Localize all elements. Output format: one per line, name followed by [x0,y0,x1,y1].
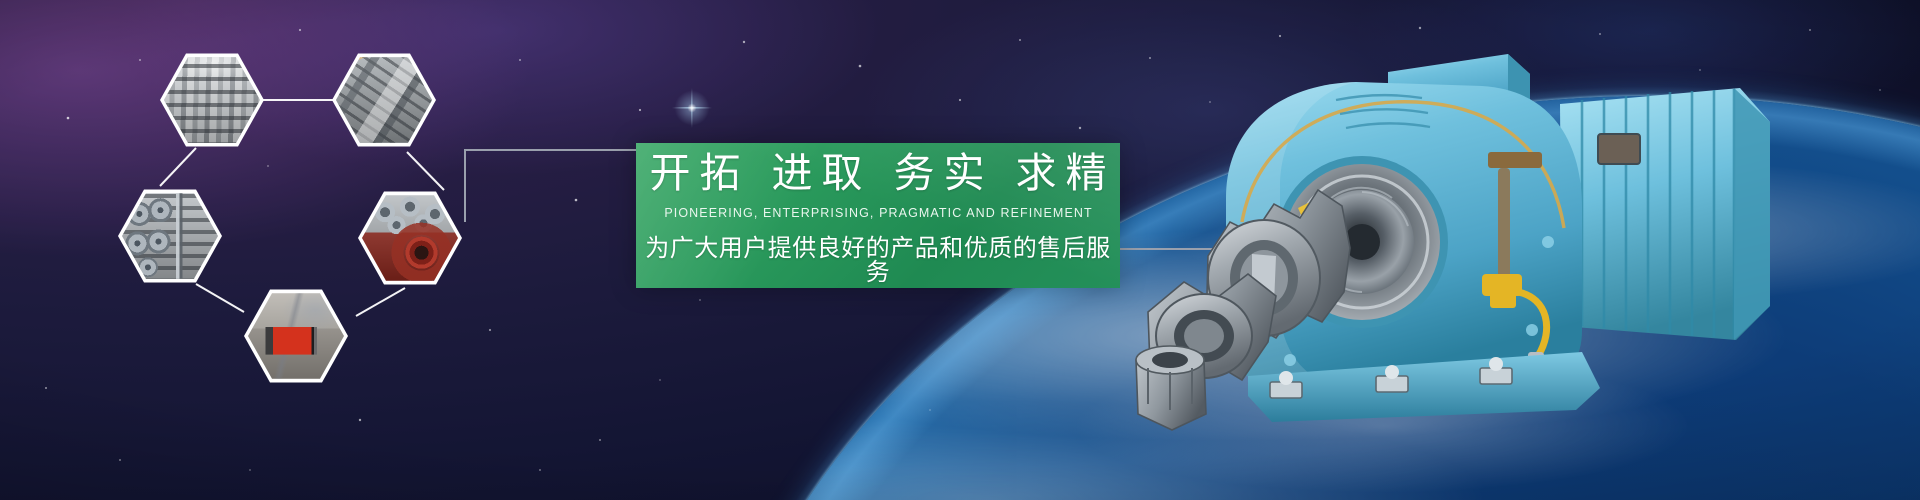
hexagon-cluster [0,0,560,420]
hex-wheel-castings-photo [122,190,218,282]
slogan-subtitle-cn: 为广大用户提供良好的产品和优质的售后服务 [636,236,1120,284]
hex-red-housing-photo [362,192,458,284]
motor-body [1560,88,1770,340]
hex-plate-castings-photo [336,54,432,146]
slogan-headline: 开拓 进取 务实 求精 [636,153,1120,194]
hex-red-machine-photo [248,290,344,382]
banner-root: 开拓 进取 务实 求精 PIONEERING, ENTERPRISING, PR… [0,0,1920,500]
sleeve-bushing-part [1136,346,1206,430]
slogan-subtitle-en: PIONEERING, ENTERPRISING, PRAGMATIC AND … [636,207,1120,220]
hex-cylinder-castings-photo [164,54,260,146]
slogan-panel: 开拓 进取 务实 求精 PIONEERING, ENTERPRISING, PR… [636,143,1120,288]
gearbox-motor-assembly [1130,30,1920,450]
